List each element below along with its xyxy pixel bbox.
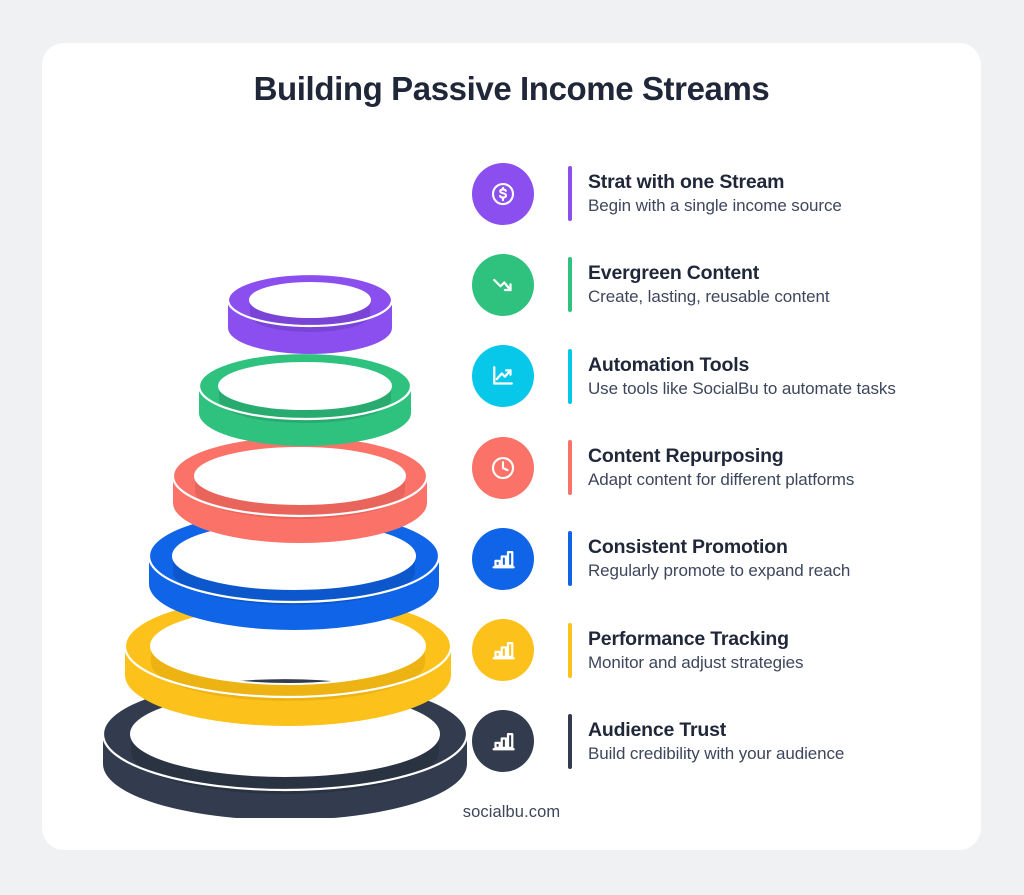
accent-bar [568,440,572,495]
list-item-text: Strat with one Stream Begin with a singl… [588,171,842,216]
list-item-text: Performance Tracking Monitor and adjust … [588,628,803,673]
content-card: Building Passive Income Streams [42,43,981,850]
list-item[interactable]: Content Repurposing Adapt content for di… [472,422,972,513]
bar-chart-icon [488,726,518,756]
bar-chart-icon [488,544,518,574]
accent-bar [568,623,572,678]
list-item[interactable]: Consistent Promotion Regularly promote t… [472,513,972,604]
list-item-desc: Monitor and adjust strategies [588,653,803,673]
list-item-text: Audience Trust Build credibility with yo… [588,719,844,764]
icon-badge [472,619,534,681]
infographic-canvas: Building Passive Income Streams [0,0,1024,895]
list-item-text: Content Repurposing Adapt content for di… [588,445,854,490]
icon-badge [472,437,534,499]
list-item[interactable]: Evergreen Content Create, lasting, reusa… [472,239,972,330]
list-item-title: Automation Tools [588,354,896,377]
list-item[interactable]: Automation Tools Use tools like SocialBu… [472,331,972,422]
icon-badge [472,528,534,590]
trend-down-arrow-icon [488,270,518,300]
footer-url: socialbu.com [42,803,981,822]
list-item[interactable]: Audience Trust Build credibility with yo… [472,696,972,787]
accent-bar [568,349,572,404]
list-item-title: Consistent Promotion [588,536,850,559]
stacked-rings-illustration [85,138,485,818]
line-chart-up-icon [488,361,518,391]
list-item-text: Consistent Promotion Regularly promote t… [588,536,850,581]
list-item-title: Content Repurposing [588,445,854,468]
ring-coral [173,436,427,543]
list-item-title: Performance Tracking [588,628,803,651]
accent-bar [568,714,572,769]
list-item[interactable]: Strat with one Stream Begin with a singl… [472,148,972,239]
page-title: Building Passive Income Streams [42,70,981,108]
list-item-text: Evergreen Content Create, lasting, reusa… [588,262,829,307]
ring-green [199,353,411,446]
accent-bar [568,531,572,586]
icon-badge [472,254,534,316]
bar-chart-icon [488,635,518,665]
list-item-desc: Regularly promote to expand reach [588,561,850,581]
clock-icon [488,453,518,483]
list-item[interactable]: Performance Tracking Monitor and adjust … [472,604,972,695]
accent-bar [568,166,572,221]
list-item-desc: Adapt content for different platforms [588,470,854,490]
list-item-title: Strat with one Stream [588,171,842,194]
icon-badge [472,710,534,772]
list-item-desc: Begin with a single income source [588,196,842,216]
list-item-text: Automation Tools Use tools like SocialBu… [588,354,896,399]
list-item-title: Evergreen Content [588,262,829,285]
list-item-desc: Create, lasting, reusable content [588,287,829,307]
list-item-desc: Use tools like SocialBu to automate task… [588,379,896,399]
feature-list: Strat with one Stream Begin with a singl… [472,148,972,787]
list-item-title: Audience Trust [588,719,844,742]
dollar-circle-icon [488,179,518,209]
list-item-desc: Build credibility with your audience [588,744,844,764]
accent-bar [568,257,572,312]
ring-purple [228,274,392,354]
icon-badge [472,163,534,225]
icon-badge [472,345,534,407]
